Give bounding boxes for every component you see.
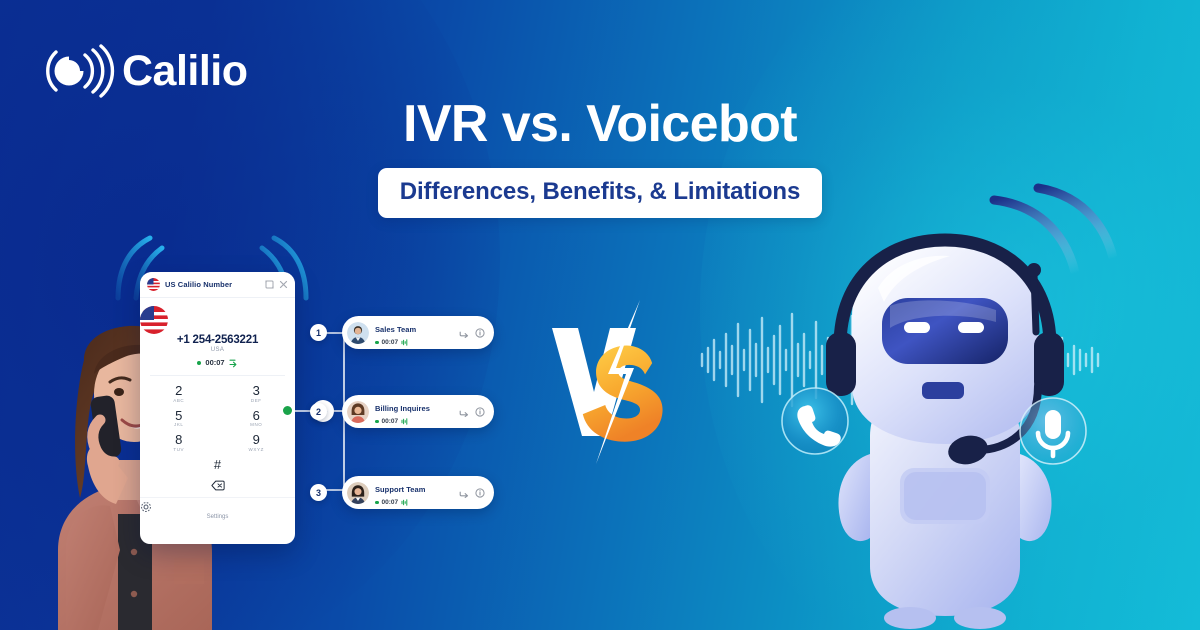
ivr-option-card[interactable]: Sales Team 00:07 <box>342 316 494 349</box>
info-icon[interactable] <box>475 328 485 338</box>
gear-icon <box>140 501 295 513</box>
calilio-signal-logo-icon <box>42 38 108 104</box>
ivr-option-meta: Sales Team 00:07 <box>375 319 453 346</box>
microphone-badge[interactable] <box>1016 394 1090 468</box>
ivr-option-number: 3 <box>310 484 327 501</box>
call-forward-icon[interactable] <box>229 358 238 367</box>
audio-wave-icon <box>401 499 409 506</box>
dialpad-digit: 2 <box>140 384 218 398</box>
country-label: USA <box>140 347 295 353</box>
ivr-option-name: Support Team <box>375 485 425 494</box>
info-icon[interactable] <box>475 488 485 498</box>
ivr-option-meta: Billing Inquires 00:07 <box>375 398 453 425</box>
status-dot-icon <box>197 361 201 365</box>
softphone-call-panel: +1 254-2563221 USA 00:07 <box>140 298 295 367</box>
ivr-option-status: 00:07 <box>375 418 453 425</box>
ivr-option-status: 00:07 <box>375 339 453 346</box>
avatar <box>347 482 369 504</box>
dialpad-key[interactable]: 2 ABC <box>140 382 218 405</box>
dialed-number: +1 254-2563221 <box>140 334 295 346</box>
close-icon[interactable] <box>279 280 288 289</box>
backspace-icon[interactable] <box>140 476 295 493</box>
ivr-option-name: Billing Inquires <box>375 404 430 413</box>
dialpad[interactable]: 2 ABC 3 DEF 5 JKL 6 MNO 8 TUV 9 WXYZ <box>140 376 295 493</box>
status-dot-icon <box>375 420 379 424</box>
call-status: 00:07 <box>140 358 295 367</box>
brand-name: Calilio <box>122 50 248 93</box>
promo-banner: Calilio IVR vs. Voicebot Differences, Be… <box>0 0 1200 630</box>
audio-wave-icon <box>401 418 409 425</box>
dialpad-digit: 5 <box>140 409 218 423</box>
phone-handset-badge[interactable] <box>778 384 852 458</box>
status-dot-icon <box>375 341 379 345</box>
avatar <box>347 401 369 423</box>
ivr-routing-tree: 1 Sales Team 00:07 <box>282 300 497 530</box>
versus-graphic <box>548 296 678 466</box>
softphone-title: US Calilio Number <box>165 280 260 289</box>
avatar <box>347 322 369 344</box>
us-flag-large-icon <box>140 306 295 334</box>
ivr-option-number: 2 <box>310 403 327 420</box>
ivr-option-status: 00:07 <box>375 499 453 506</box>
dialpad-digit: # <box>140 458 295 472</box>
dialpad-letters: JKL <box>140 422 218 427</box>
settings-button[interactable]: Settings <box>140 497 295 527</box>
dialpad-key[interactable]: 8 TUV <box>140 431 218 454</box>
dialpad-key-hash[interactable]: # <box>140 456 295 474</box>
settings-label: Settings <box>140 514 295 520</box>
info-icon[interactable] <box>475 407 485 417</box>
ivr-option-timer: 00:07 <box>382 418 399 425</box>
active-call-node-icon <box>283 406 292 415</box>
ivr-option-number: 1 <box>310 324 327 341</box>
ivr-option-card[interactable]: Billing Inquires 00:07 <box>342 395 494 428</box>
us-flag-icon <box>147 278 160 291</box>
ivr-option-timer: 00:07 <box>382 339 399 346</box>
dialpad-letters: ABC <box>140 398 218 403</box>
brand-logo[interactable]: Calilio <box>42 38 248 104</box>
dialpad-digit: 8 <box>140 433 218 447</box>
dialpad-letters: TUV <box>140 447 218 452</box>
hero-subtitle-pill: Differences, Benefits, & Limitations <box>378 168 823 218</box>
call-forward-icon[interactable] <box>459 407 469 417</box>
call-forward-icon[interactable] <box>459 488 469 498</box>
ivr-option-timer: 00:07 <box>382 499 399 506</box>
call-forward-icon[interactable] <box>459 328 469 338</box>
expand-icon[interactable] <box>265 280 274 289</box>
ivr-option-meta: Support Team 00:07 <box>375 479 453 506</box>
ivr-option-card[interactable]: Support Team 00:07 <box>342 476 494 509</box>
audio-wave-icon <box>401 339 409 346</box>
softphone-widget[interactable]: US Calilio Number <box>140 272 295 544</box>
dialpad-key[interactable]: 5 JKL <box>140 407 218 430</box>
ivr-option-name: Sales Team <box>375 325 416 334</box>
call-timer: 00:07 <box>205 358 224 367</box>
page-title: IVR vs. Voicebot <box>0 96 1200 152</box>
status-dot-icon <box>375 501 379 505</box>
softphone-header: US Calilio Number <box>140 272 295 298</box>
